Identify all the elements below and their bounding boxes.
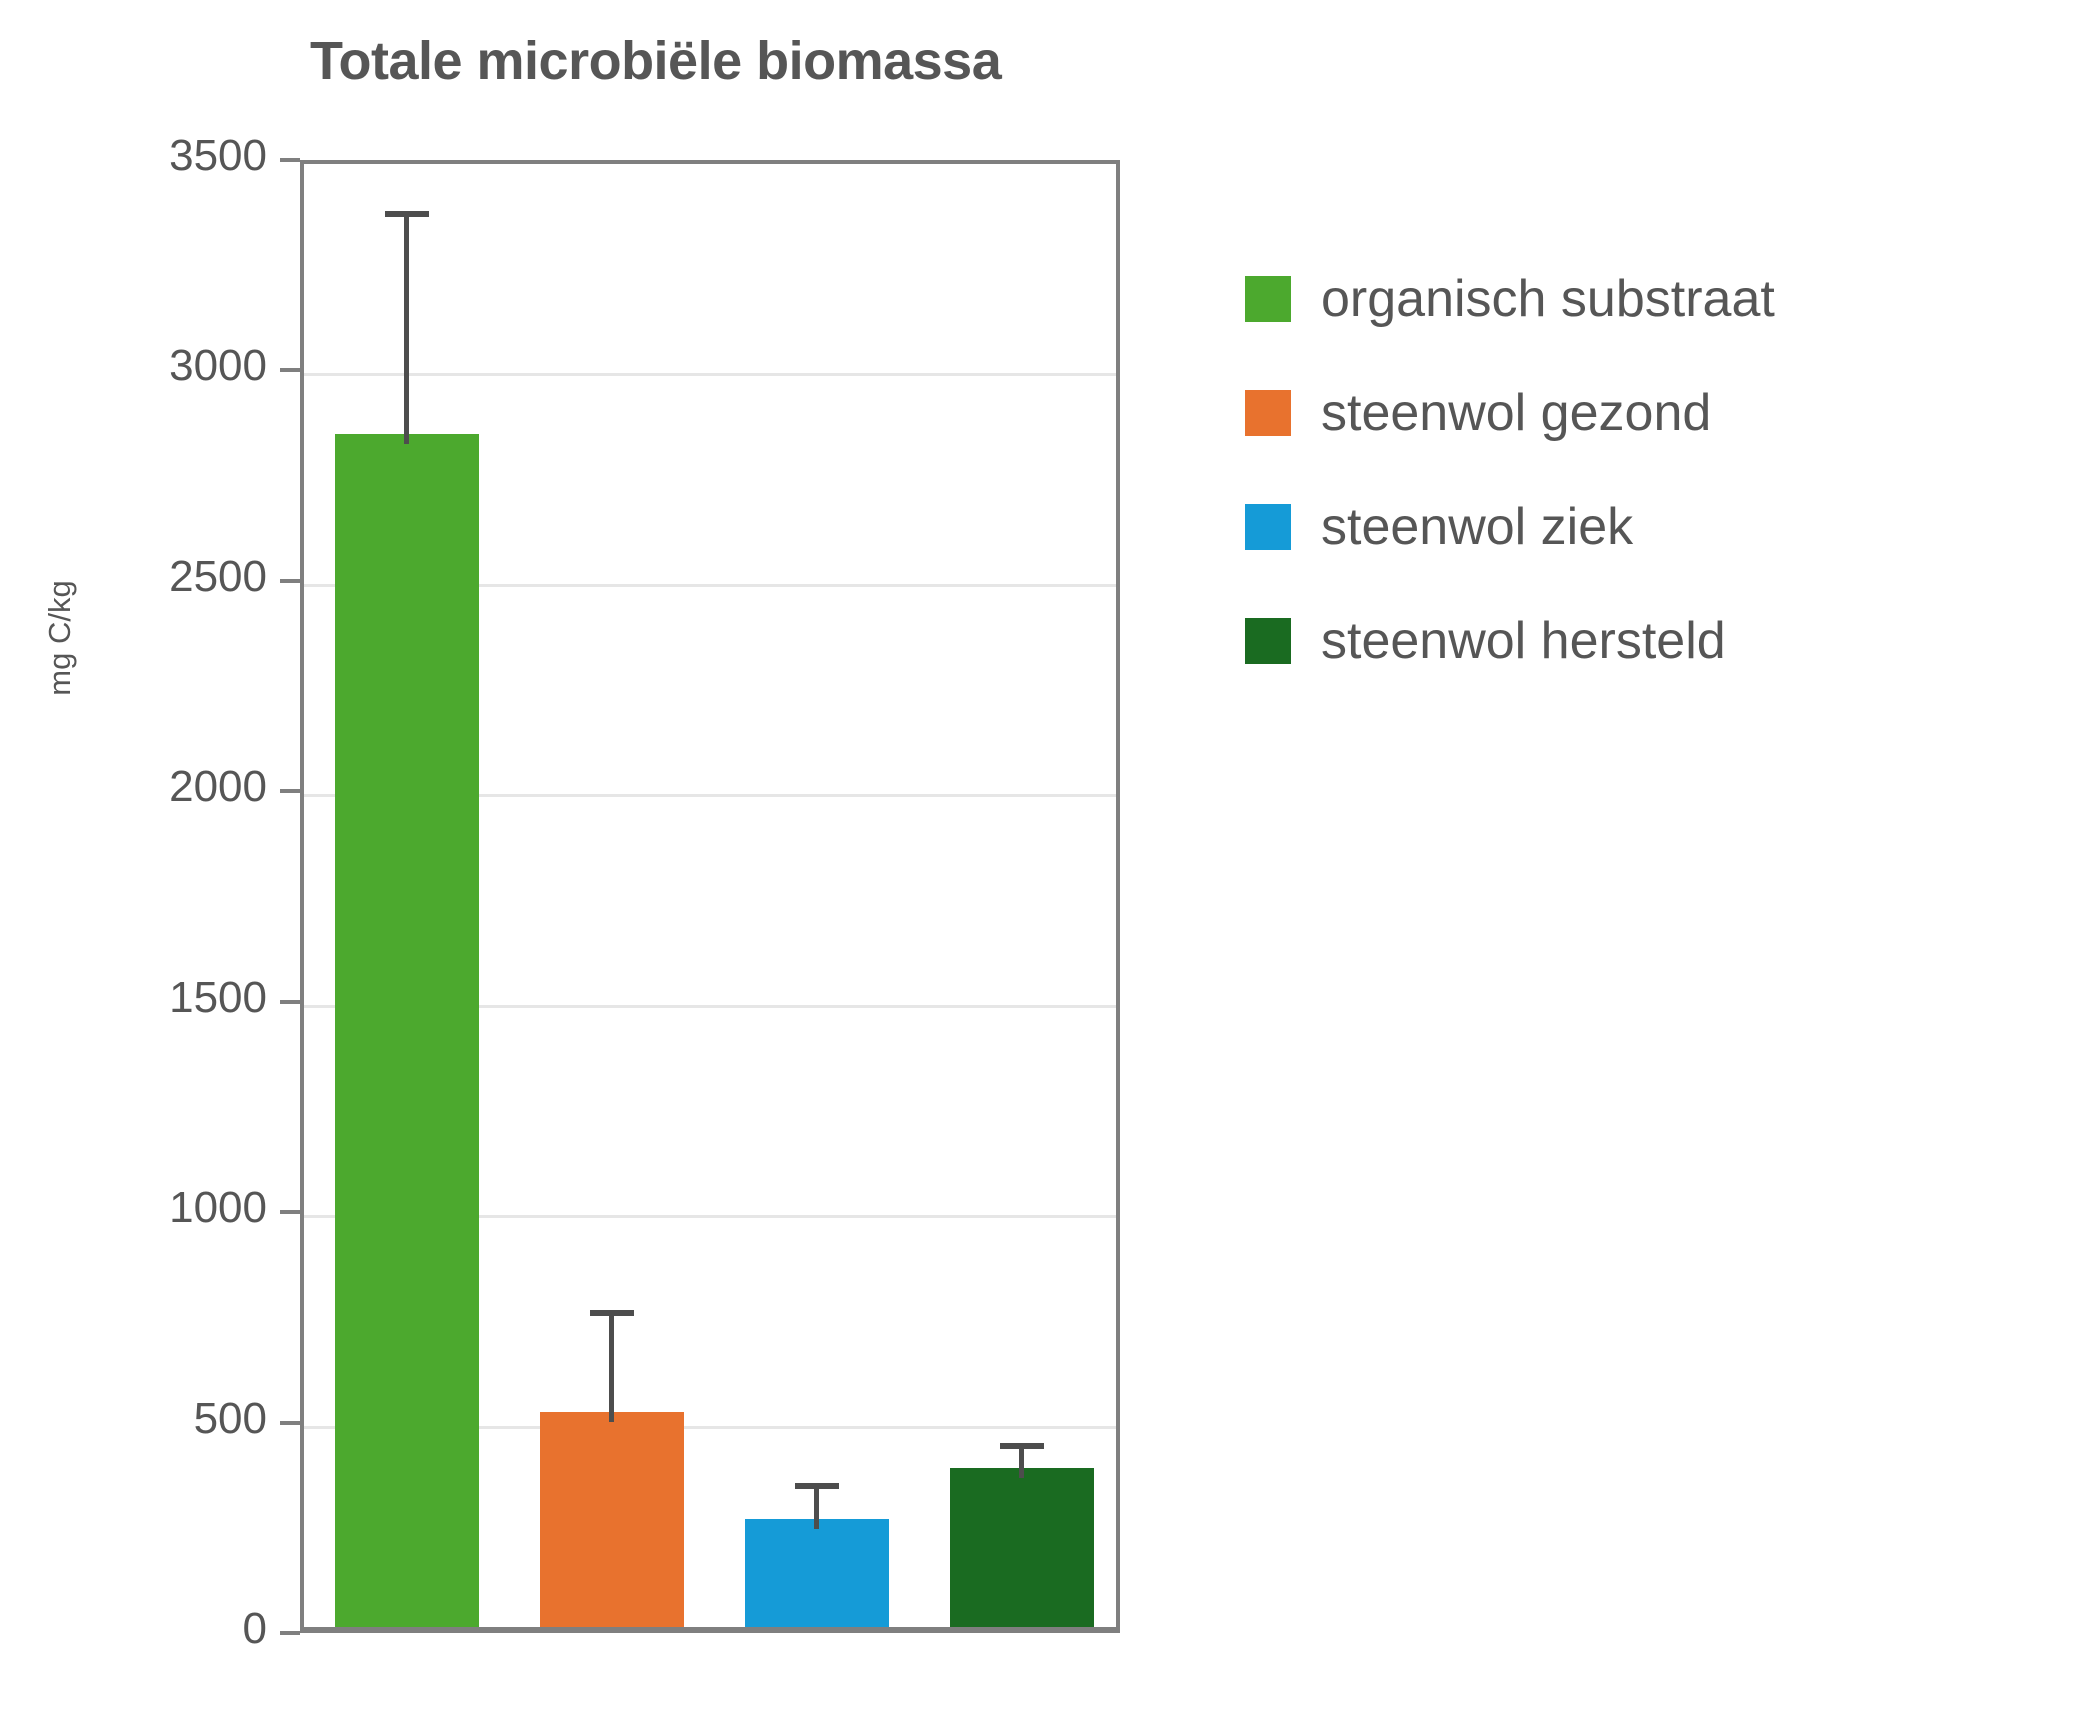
bar	[745, 1519, 889, 1627]
bar	[950, 1468, 1094, 1627]
y-tick-mark	[280, 1421, 300, 1425]
legend-item-label: steenwol gezond	[1321, 383, 1711, 443]
legend-swatch-icon	[1245, 618, 1291, 664]
gridline	[304, 373, 1116, 376]
error-bar-stem	[404, 211, 409, 444]
y-tick-label: 3500	[0, 131, 267, 181]
y-tick-label: 3000	[0, 341, 267, 391]
legend: organisch substraatsteenwol gezondsteenw…	[1245, 242, 1775, 698]
plot-area	[300, 160, 1120, 1633]
legend-item[interactable]: steenwol gezond	[1245, 356, 1775, 470]
chart-title: Totale microbiële biomassa	[310, 30, 1001, 92]
legend-swatch-icon	[1245, 504, 1291, 550]
chart-figure: Totale microbiële biomassa mg C/kg 35003…	[0, 0, 2077, 1732]
legend-swatch-icon	[1245, 276, 1291, 322]
error-bar-cap	[795, 1483, 839, 1489]
error-bar-cap	[590, 1310, 634, 1316]
legend-item[interactable]: organisch substraat	[1245, 242, 1775, 356]
y-tick-label: 1000	[0, 1183, 267, 1233]
error-bar-stem	[814, 1483, 819, 1529]
y-tick-mark	[280, 158, 300, 162]
y-tick-mark	[280, 1000, 300, 1004]
bar	[335, 434, 479, 1627]
y-tick-label: 500	[0, 1394, 267, 1444]
legend-item[interactable]: steenwol hersteld	[1245, 584, 1775, 698]
legend-item-label: steenwol hersteld	[1321, 611, 1726, 671]
y-tick-label: 2500	[0, 552, 267, 602]
y-tick-mark	[280, 1631, 300, 1635]
legend-item-label: steenwol ziek	[1321, 497, 1633, 557]
y-tick-mark	[280, 579, 300, 583]
legend-swatch-icon	[1245, 390, 1291, 436]
y-tick-mark	[280, 1210, 300, 1214]
y-tick-label: 0	[0, 1604, 267, 1654]
legend-item[interactable]: steenwol ziek	[1245, 470, 1775, 584]
y-tick-mark	[280, 368, 300, 372]
y-tick-label: 1500	[0, 973, 267, 1023]
bar	[540, 1412, 684, 1627]
y-tick-mark	[280, 789, 300, 793]
y-tick-label: 2000	[0, 762, 267, 812]
error-bar-stem	[609, 1310, 614, 1422]
error-bar-cap	[1000, 1443, 1044, 1449]
legend-item-label: organisch substraat	[1321, 269, 1775, 329]
error-bar-cap	[385, 211, 429, 217]
